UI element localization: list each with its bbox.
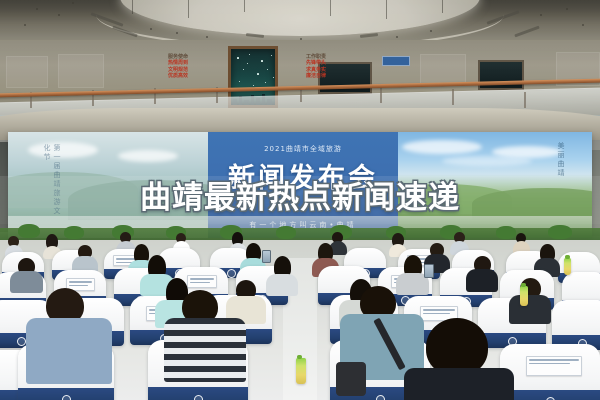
potted-plant [496, 226, 516, 239]
ceiling-downlight [24, 24, 26, 26]
potted-plant [548, 225, 572, 239]
smartphone [424, 264, 434, 278]
potted-plant [18, 224, 40, 238]
balcony-sign-left: 服务使命 热情周到 文明规范 优质高效 [150, 54, 206, 79]
potted-plant [64, 226, 84, 239]
ceiling-downlight [150, 28, 152, 30]
balcony-sign-left-line-3: 优质高效 [150, 73, 206, 79]
ceiling-downlight [58, 14, 60, 16]
ceiling-rod [442, 0, 443, 13]
drink-bottle [296, 358, 306, 384]
ceiling-downlight [72, 2, 74, 4]
ceiling-rod [188, 0, 189, 18]
ceiling-downlight [540, 14, 542, 16]
overlay-title: 曲靖最新热点新闻速递 [0, 183, 600, 214]
news-photo-scene: 服务使命 热情周到 文明规范 优质高效 工作职责 先锋带头 求真务实 廉洁自律 … [0, 0, 600, 400]
railing-post [524, 92, 526, 108]
exit-sign [382, 56, 410, 66]
drink-bottle [520, 286, 528, 306]
potted-plant [276, 226, 296, 239]
ceiling-rod [132, 0, 133, 14]
wall-panel [58, 54, 104, 88]
ceiling-rod [244, 0, 245, 12]
drink-bottle [564, 258, 571, 275]
railing-post [380, 87, 382, 103]
ceiling-downlight [582, 24, 584, 26]
shoulder-bag [336, 362, 366, 396]
wall-panel [6, 56, 48, 88]
balcony-sign-right-line-3: 廉洁自律 [288, 73, 344, 79]
balcony-sign-right: 工作职责 先锋带头 求真务实 廉洁自律 [288, 54, 344, 79]
chair [552, 300, 600, 350]
chair [500, 344, 600, 400]
ceiling-downlight [36, 8, 38, 10]
ceiling-rod [330, 0, 331, 16]
ceiling-downlight [176, 32, 178, 34]
smartphone [262, 250, 271, 263]
railing-post [452, 89, 454, 105]
ceiling-rod [386, 0, 387, 19]
seat-name-card [526, 356, 582, 376]
banner-top-line: 2021曲靖市全域旅游 [208, 144, 398, 154]
ceiling-downlight [566, 8, 568, 10]
ceiling-downlight [206, 36, 208, 38]
ceiling-downlight [396, 36, 398, 38]
wall-dark-window [478, 60, 524, 90]
ceiling-downlight [430, 30, 432, 32]
